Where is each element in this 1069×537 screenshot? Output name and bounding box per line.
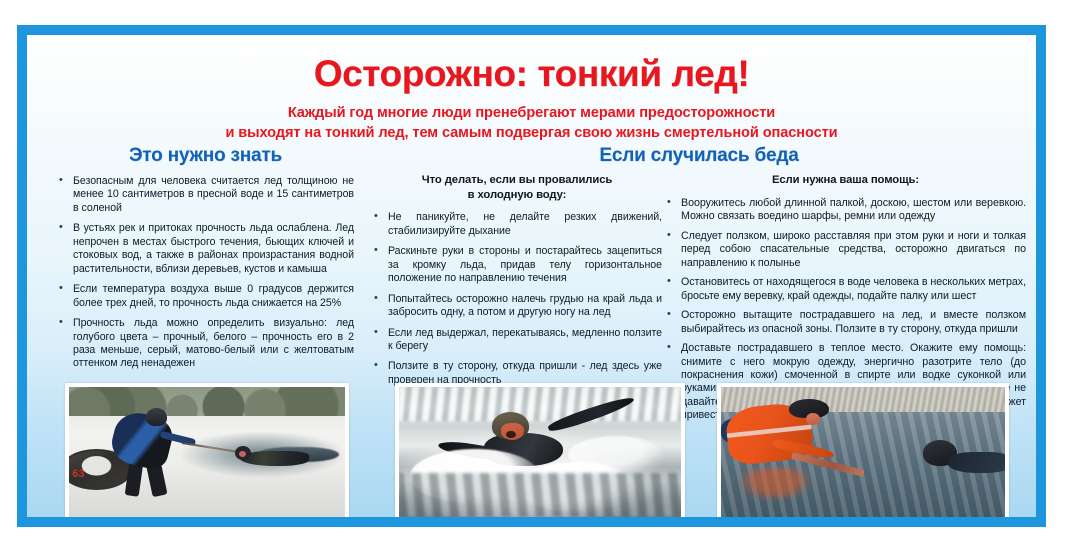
column-middle: Что делать, если вы провалились в холодн… [372, 145, 662, 394]
victim-body [948, 452, 1005, 473]
list-know: Безопасным для человека считается лед то… [57, 175, 354, 371]
photo-image [399, 387, 681, 517]
rescuer-face [806, 413, 820, 425]
content-columns: Это нужно знать Если случилась беда Безо… [27, 145, 1036, 390]
photo-image [721, 387, 1005, 517]
poster-card: Осторожно: тонкий лед! Каждый год многие… [17, 25, 1046, 527]
list-item: Не паникуйте, не делайте резких движений… [372, 211, 662, 238]
photo-image [69, 387, 345, 517]
subtitle-line-2: и выходят на тонкий лед, тем самым подве… [27, 124, 1036, 144]
column-left: Безопасным для человека считается лед то… [57, 145, 354, 378]
subheading-fell-in-water: Что делать, если вы провалились в холодн… [372, 173, 662, 202]
subheading-line-1: Что делать, если вы провалились [372, 173, 662, 188]
list-item: Безопасным для человека считается лед то… [57, 175, 354, 215]
page-title: Осторожно: тонкий лед! [27, 55, 1036, 94]
subtitle-line-1: Каждый год многие люди пренебрегают мера… [27, 104, 1036, 124]
list-fell-in-water: Не паникуйте, не делайте резких движений… [372, 211, 662, 387]
list-item: Прочность льда можно определить визуальн… [57, 317, 354, 371]
water-foreground [399, 473, 681, 517]
water-surface [399, 387, 681, 421]
list-item: Остановитесь от находящегося в воде чело… [665, 276, 1026, 303]
list-item: Попытайтесь осторожно налечь грудью на к… [372, 293, 662, 320]
orange-reflection [738, 468, 812, 502]
list-item: В устьях рек и притоках прочность льда о… [57, 222, 354, 276]
list-item: Осторожно вытащите пострадавшего на лед,… [665, 309, 1026, 336]
list-item: Вооружитесь любой длинной палкой, доскою… [665, 197, 1026, 224]
subtitle: Каждый год многие люди пренебрегают мера… [27, 104, 1036, 144]
photo-strip [27, 383, 1036, 527]
subheading-your-help: Если нужна ваша помощь: [665, 173, 1026, 188]
treeline [69, 387, 345, 416]
rescuer-head [146, 408, 167, 426]
subheading-line-2: в холодную воду: [372, 188, 662, 203]
list-item: Если лед выдержал, перекатываясь, медлен… [372, 327, 662, 354]
list-item: Следует ползком, широко расставляя при э… [665, 230, 1026, 270]
list-item: Раскиньте руки в стороны и постарайтесь … [372, 245, 662, 285]
photo-rescue-with-pole-on-snow [65, 383, 349, 521]
photo-man-in-icy-water [395, 383, 685, 521]
water-splash [568, 436, 664, 475]
photo-rescuer-in-orange-vest [717, 383, 1009, 521]
victim-face [239, 451, 246, 457]
list-item: Если температура воздуха выше 0 градусов… [57, 283, 354, 310]
